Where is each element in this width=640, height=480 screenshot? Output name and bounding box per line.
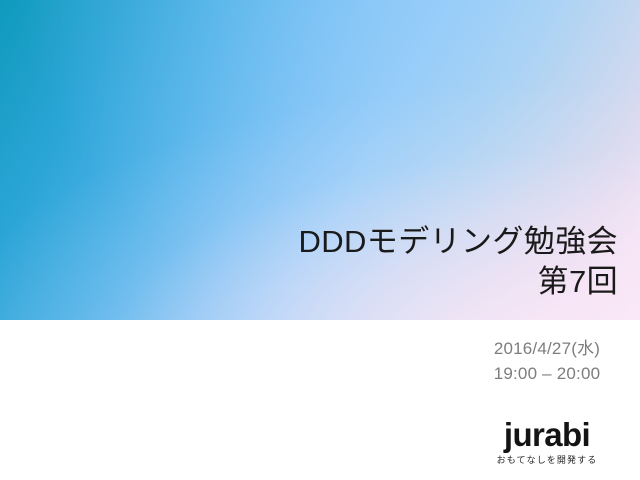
slide-subtitle: 2016/4/27(水) 19:00 – 20:00 xyxy=(452,336,640,386)
event-time: 19:00 – 20:00 xyxy=(452,361,640,386)
title-line-primary: DDDモデリング勉強会 xyxy=(138,222,618,262)
title-line-secondary: 第7回 xyxy=(138,262,618,302)
presentation-title-slide: DDDモデリング勉強会 第7回 2016/4/27(水) 19:00 – 20:… xyxy=(0,0,640,480)
logo-tagline: おもてなしを開発する xyxy=(452,455,640,467)
logo-wordmark: jurabi xyxy=(452,418,640,452)
event-date: 2016/4/27(水) xyxy=(452,336,640,361)
slide-title: DDDモデリング勉強会 第7回 xyxy=(138,222,618,302)
company-logo: jurabi おもてなしを開発する xyxy=(452,418,640,467)
